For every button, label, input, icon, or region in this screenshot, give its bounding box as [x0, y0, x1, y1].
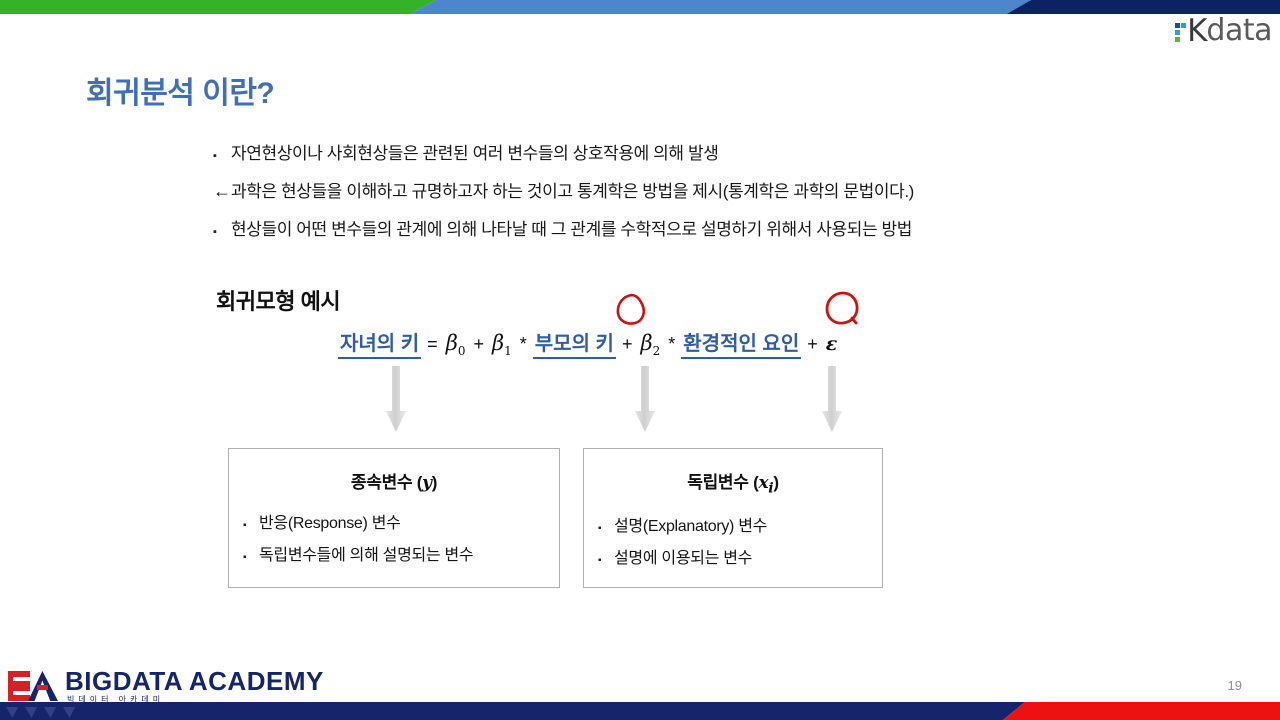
- equation-predictor-2: 환경적인 요인: [681, 327, 801, 359]
- equation-plus-2: +: [616, 334, 639, 355]
- top-bar-green-segment: [0, 0, 410, 14]
- list-item-label: 현상들이 어떤 변수들의 관계에 의해 나타날 때 그 관계를 수학적으로 설명…: [231, 215, 1133, 240]
- list-item: ▪ 반응(Response) 변수: [243, 509, 559, 533]
- bullet-list: ▪ 자연현상이나 사회현상들은 관련된 여러 변수들의 상호작용에 의해 발생 …: [213, 139, 1133, 253]
- bottom-decorative-bar: [0, 702, 1280, 720]
- bottom-bar-red-segment: [1003, 702, 1280, 720]
- independent-variable-title: 독립변수 (xi): [584, 468, 882, 496]
- equation-beta1-subscript: 1: [504, 344, 512, 358]
- dependent-variable-symbol: (y): [417, 473, 437, 492]
- red-circle-annotation-predictor2: [822, 290, 864, 328]
- equation-error-term: ε: [824, 333, 838, 355]
- independent-variable-box: 독립변수 (xi) ▪ 설명(Explanatory) 변수 ▪ 설명에 이용되…: [583, 448, 883, 588]
- ba-monogram-icon: [8, 671, 58, 701]
- down-arrow-icon-response: [385, 366, 407, 434]
- kdata-logo-word: data: [1206, 16, 1272, 46]
- independent-variable-symbol: (xi): [753, 473, 779, 492]
- dependent-variable-title-label: 종속변수: [351, 473, 412, 492]
- equation-beta2: β2: [638, 331, 662, 358]
- equation-beta0-symbol: β: [446, 331, 458, 355]
- list-item: ▪ 설명에 이용되는 변수: [598, 544, 882, 568]
- square-bullet-icon: ▪: [598, 555, 614, 566]
- section-heading: 회귀모형 예시: [216, 284, 340, 316]
- equation-predictor-1: 부모의 키: [533, 327, 616, 359]
- list-item-label: 자연현상이나 사회현상들은 관련된 여러 변수들의 상호작용에 의해 발생: [231, 139, 1133, 164]
- equation-plus-3: +: [801, 334, 824, 355]
- equation-times-1: *: [514, 334, 533, 355]
- equation-beta1: β1: [490, 331, 514, 358]
- list-item-label: 설명에 이용되는 변수: [614, 544, 752, 568]
- equation-beta1-symbol: β: [492, 331, 504, 355]
- top-bar-navy-segment: [1007, 0, 1280, 14]
- equation-beta2-symbol: β: [640, 331, 652, 355]
- bigdata-academy-logo: BIGDATA ACADEMY 빅데이터 아카데미: [8, 668, 324, 704]
- top-decorative-bar: [0, 0, 1280, 14]
- dependent-variable-title: 종속변수 (y): [229, 468, 559, 493]
- equation-times-2: *: [662, 334, 681, 355]
- list-item-label: 과학은 현상들을 이해하고 규명하고자 하는 것이고 통계학은 방법을 제시(통…: [231, 177, 1133, 202]
- square-bullet-icon: ▪: [243, 520, 259, 531]
- equation-plus-1: +: [467, 334, 490, 355]
- square-bullet-icon: ▪: [213, 227, 231, 238]
- equation-equals: =: [421, 334, 444, 355]
- bottom-bar-navy-segment: [0, 702, 1025, 720]
- equation-beta0-subscript: 0: [458, 344, 466, 358]
- page-title: 회귀분석 이란?: [86, 68, 274, 112]
- list-item-label: 반응(Response) 변수: [259, 509, 401, 533]
- down-arrow-icon-predictor1: [634, 366, 656, 434]
- square-bullet-icon: ▪: [243, 552, 259, 563]
- dependent-variable-list: ▪ 반응(Response) 변수 ▪ 독립변수들에 의해 설명되는 변수: [229, 509, 559, 565]
- left-arrow-icon: ←: [213, 182, 231, 200]
- chevron-decoration-icon: [6, 707, 75, 718]
- independent-variable-title-label: 독립변수: [687, 473, 748, 492]
- list-item: ▪ 독립변수들에 의해 설명되는 변수: [243, 541, 559, 565]
- red-circle-annotation-predictor1: [612, 292, 652, 328]
- equation-beta0: β0: [444, 331, 468, 358]
- square-bullet-icon: ▪: [213, 151, 231, 162]
- list-item: ← 과학은 현상들을 이해하고 규명하고자 하는 것이고 통계학은 방법을 제시…: [213, 177, 1133, 202]
- list-item: ▪ 자연현상이나 사회현상들은 관련된 여러 변수들의 상호작용에 의해 발생: [213, 139, 1133, 164]
- dependent-variable-box: 종속변수 (y) ▪ 반응(Response) 변수 ▪ 독립변수들에 의해 설…: [228, 448, 560, 588]
- footer-logo-title: BIGDATA ACADEMY: [65, 668, 324, 694]
- page-number: 19: [1228, 678, 1242, 693]
- equation-beta2-subscript: 2: [653, 344, 661, 358]
- square-bullet-icon: ▪: [598, 523, 614, 534]
- list-item: ▪ 현상들이 어떤 변수들의 관계에 의해 나타날 때 그 관계를 수학적으로 …: [213, 215, 1133, 240]
- down-arrow-icon-predictor2: [821, 366, 843, 434]
- equation-response-term: 자녀의 키: [338, 327, 421, 359]
- kdata-squares-icon: [1175, 20, 1186, 46]
- list-item-label: 설명(Explanatory) 변수: [614, 512, 767, 536]
- regression-equation: 자녀의 키 = β0 + β1 * 부모의 키 + β2 * 환경적인 요인 +…: [338, 327, 837, 359]
- list-item: ▪ 설명(Explanatory) 변수: [598, 512, 882, 536]
- kdata-logo-k: K: [1187, 16, 1206, 46]
- kdata-logo: K data: [1175, 16, 1272, 46]
- top-bar-blue-segment: [410, 0, 1030, 14]
- list-item-label: 독립변수들에 의해 설명되는 변수: [259, 541, 473, 565]
- independent-variable-list: ▪ 설명(Explanatory) 변수 ▪ 설명에 이용되는 변수: [584, 512, 882, 568]
